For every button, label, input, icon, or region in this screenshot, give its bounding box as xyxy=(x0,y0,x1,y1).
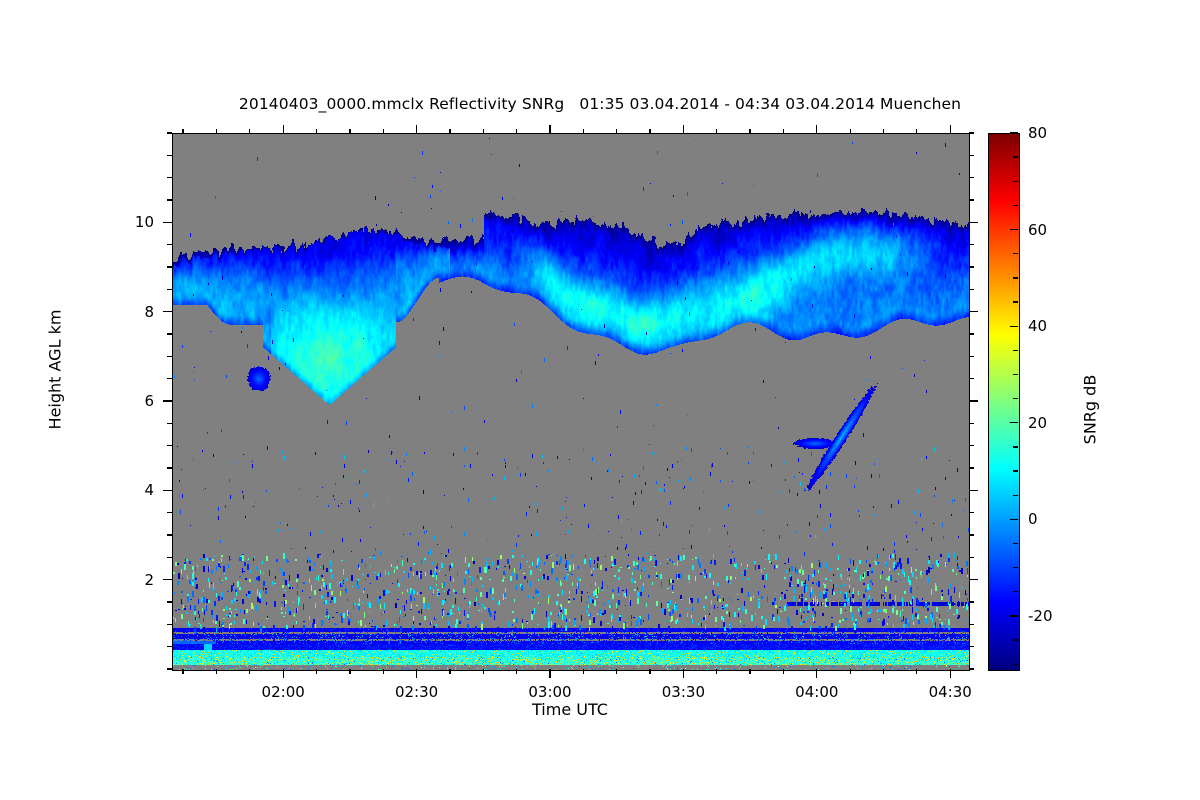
page-title: 20140403_0000.mmclx Reflectivity SNRg 01… xyxy=(0,95,1200,113)
colorbar-tick-minor xyxy=(1013,156,1018,157)
y-tick-major xyxy=(163,400,172,401)
colorbar-tick-major xyxy=(1010,519,1018,520)
x-tick-minor-top xyxy=(583,129,584,134)
x-tick-label: 03:00 xyxy=(505,683,595,701)
x-tick-major-top xyxy=(683,125,684,134)
y-tick-minor-right xyxy=(969,244,974,245)
colorbar-tick-label: 60 xyxy=(1028,221,1047,239)
y-tick-major-right xyxy=(969,222,978,223)
y-tick-minor-right xyxy=(969,467,974,468)
y-tick-minor-right xyxy=(969,199,974,200)
plot-axes-area xyxy=(172,133,970,671)
y-tick-label: 8 xyxy=(114,303,154,321)
radar-reflectivity-heatmap xyxy=(173,134,969,670)
y-axis-label: Height AGL km xyxy=(46,260,65,480)
x-tick-major-top xyxy=(416,125,417,134)
y-tick-minor-right xyxy=(969,646,974,647)
x-tick-minor xyxy=(483,669,484,674)
y-tick-minor xyxy=(167,467,172,468)
y-tick-major xyxy=(163,311,172,312)
y-tick-minor xyxy=(167,423,172,424)
y-tick-minor xyxy=(167,199,172,200)
y-tick-minor xyxy=(167,445,172,446)
y-tick-minor xyxy=(167,155,172,156)
x-tick-minor-top xyxy=(216,129,217,134)
x-tick-major-top xyxy=(549,125,550,134)
colorbar-gradient xyxy=(989,134,1019,670)
x-tick-minor xyxy=(749,669,750,674)
y-tick-minor xyxy=(167,557,172,558)
x-axis-label: Time UTC xyxy=(172,700,968,719)
y-tick-major xyxy=(163,579,172,580)
x-tick-minor-top xyxy=(716,129,717,134)
x-tick-minor-top xyxy=(316,129,317,134)
colorbar-tick-major xyxy=(1010,422,1018,423)
y-tick-minor xyxy=(167,378,172,379)
x-tick-minor-top xyxy=(649,129,650,134)
y-tick-minor-right xyxy=(969,445,974,446)
colorbar-label: SNRg dB xyxy=(1081,320,1100,500)
y-tick-major-right xyxy=(969,311,978,312)
y-tick-minor-right xyxy=(969,266,974,267)
y-tick-minor xyxy=(167,512,172,513)
colorbar-tick-minor xyxy=(1013,591,1018,592)
y-tick-minor xyxy=(167,624,172,625)
y-tick-minor xyxy=(167,244,172,245)
x-tick-minor xyxy=(182,669,183,674)
x-tick-major xyxy=(283,669,284,678)
x-tick-minor xyxy=(883,669,884,674)
y-tick-minor-right xyxy=(969,534,974,535)
y-tick-minor-right xyxy=(969,155,974,156)
y-tick-label: 10 xyxy=(114,213,154,231)
y-tick-minor xyxy=(167,601,172,602)
x-tick-minor xyxy=(616,669,617,674)
x-tick-minor-top xyxy=(916,129,917,134)
y-tick-minor xyxy=(167,289,172,290)
x-tick-minor-top xyxy=(483,129,484,134)
x-tick-minor-top xyxy=(383,129,384,134)
y-tick-minor-right xyxy=(969,668,974,669)
x-tick-label: 02:00 xyxy=(238,683,328,701)
y-tick-minor-right xyxy=(969,512,974,513)
x-tick-major xyxy=(816,669,817,678)
colorbar-tick-minor xyxy=(1013,277,1018,278)
y-tick-major-right xyxy=(969,579,978,580)
x-tick-minor xyxy=(716,669,717,674)
y-tick-label: 4 xyxy=(114,481,154,499)
y-tick-label: 2 xyxy=(114,571,154,589)
x-tick-minor xyxy=(249,669,250,674)
colorbar-tick-minor xyxy=(1013,301,1018,302)
y-tick-label: 6 xyxy=(114,392,154,410)
colorbar-tick-label: 80 xyxy=(1028,124,1047,142)
x-tick-major xyxy=(950,669,951,678)
y-tick-minor-right xyxy=(969,132,974,133)
x-tick-minor xyxy=(449,669,450,674)
x-tick-label: 04:30 xyxy=(905,683,995,701)
colorbar-tick-major xyxy=(1010,615,1018,616)
x-tick-minor xyxy=(383,669,384,674)
x-tick-minor-top xyxy=(449,129,450,134)
x-tick-major xyxy=(683,669,684,678)
y-tick-minor-right xyxy=(969,624,974,625)
y-tick-minor xyxy=(167,333,172,334)
x-tick-minor-top xyxy=(249,129,250,134)
y-tick-minor xyxy=(167,534,172,535)
colorbar-tick-minor xyxy=(1013,398,1018,399)
y-tick-minor xyxy=(167,266,172,267)
x-tick-minor-top xyxy=(349,129,350,134)
x-tick-major xyxy=(416,669,417,678)
figure-canvas: 20140403_0000.mmclx Reflectivity SNRg 01… xyxy=(0,0,1200,800)
x-tick-minor-top xyxy=(850,129,851,134)
y-tick-major-right xyxy=(969,490,978,491)
x-tick-minor xyxy=(349,669,350,674)
colorbar-tick-minor xyxy=(1013,567,1018,568)
y-tick-minor xyxy=(167,646,172,647)
colorbar-tick-major xyxy=(1010,132,1018,133)
x-tick-major-top xyxy=(950,125,951,134)
y-tick-minor-right xyxy=(969,289,974,290)
x-tick-minor xyxy=(316,669,317,674)
x-tick-label: 04:00 xyxy=(772,683,862,701)
colorbar-tick-major xyxy=(1010,229,1018,230)
colorbar-tick-minor xyxy=(1013,253,1018,254)
x-tick-minor xyxy=(583,669,584,674)
x-tick-minor xyxy=(216,669,217,674)
x-tick-label: 03:30 xyxy=(638,683,728,701)
x-tick-minor-top xyxy=(516,129,517,134)
y-tick-minor xyxy=(167,132,172,133)
colorbar-tick-major xyxy=(1010,326,1018,327)
x-tick-minor-top xyxy=(182,129,183,134)
y-tick-minor-right xyxy=(969,378,974,379)
colorbar-tick-minor xyxy=(1013,374,1018,375)
colorbar-tick-minor xyxy=(1013,470,1018,471)
x-tick-minor xyxy=(916,669,917,674)
y-tick-minor xyxy=(167,668,172,669)
colorbar-tick-minor xyxy=(1013,543,1018,544)
y-tick-minor-right xyxy=(969,177,974,178)
x-tick-major-top xyxy=(283,125,284,134)
x-tick-label: 02:30 xyxy=(372,683,462,701)
y-tick-minor-right xyxy=(969,423,974,424)
x-tick-minor xyxy=(850,669,851,674)
colorbar-tick-minor xyxy=(1013,181,1018,182)
colorbar-tick-minor xyxy=(1013,639,1018,640)
colorbar-tick-label: -20 xyxy=(1028,607,1053,625)
y-tick-minor-right xyxy=(969,333,974,334)
colorbar-tick-label: 0 xyxy=(1028,510,1038,528)
x-tick-minor xyxy=(783,669,784,674)
x-tick-major-top xyxy=(816,125,817,134)
colorbar-tick-minor xyxy=(1013,205,1018,206)
x-tick-major xyxy=(549,669,550,678)
y-tick-minor-right xyxy=(969,601,974,602)
x-tick-minor-top xyxy=(616,129,617,134)
x-tick-minor-top xyxy=(783,129,784,134)
colorbar-tick-minor xyxy=(1013,664,1018,665)
x-tick-minor-top xyxy=(749,129,750,134)
y-tick-minor xyxy=(167,356,172,357)
y-tick-major xyxy=(163,490,172,491)
x-tick-minor xyxy=(516,669,517,674)
colorbar-tick-label: 20 xyxy=(1028,414,1047,432)
y-tick-major-right xyxy=(969,400,978,401)
y-tick-major xyxy=(163,222,172,223)
y-tick-minor xyxy=(167,177,172,178)
y-tick-minor-right xyxy=(969,356,974,357)
x-tick-minor xyxy=(649,669,650,674)
y-tick-minor-right xyxy=(969,557,974,558)
colorbar-tick-minor xyxy=(1013,495,1018,496)
colorbar-tick-label: 40 xyxy=(1028,317,1047,335)
x-tick-minor-top xyxy=(883,129,884,134)
colorbar-tick-minor xyxy=(1013,446,1018,447)
colorbar-tick-minor xyxy=(1013,350,1018,351)
